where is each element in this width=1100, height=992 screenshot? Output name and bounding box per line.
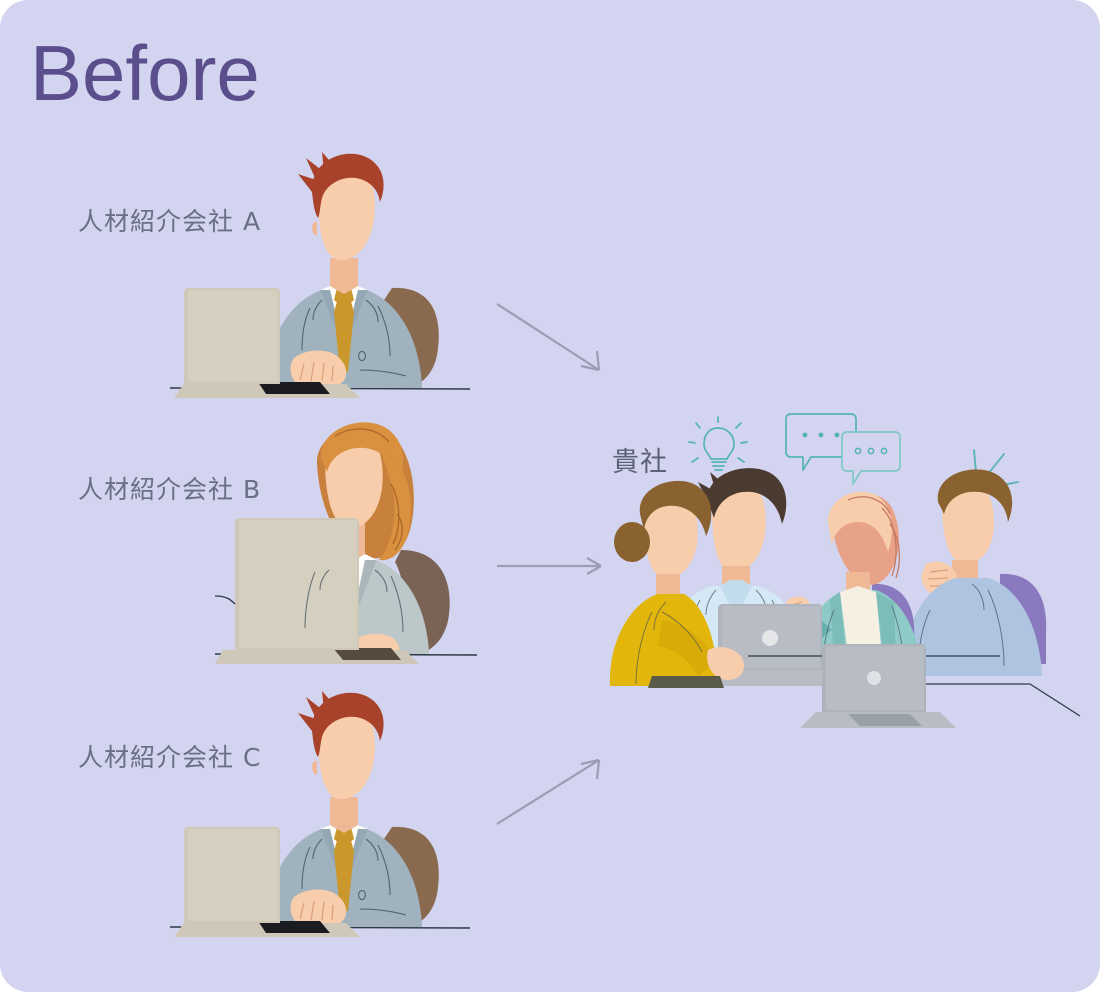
businessman-c-illustration — [170, 678, 490, 940]
infographic-canvas: Before 人材紹介会社 A — [0, 0, 1100, 992]
arrow-b-to-company — [495, 552, 610, 582]
businesswoman-b-illustration — [215, 410, 495, 665]
arrow-a-to-company — [495, 300, 610, 380]
businessman-a-illustration — [170, 140, 490, 400]
arrow-c-to-company — [495, 752, 610, 832]
page-title: Before — [30, 34, 260, 112]
person-man-right — [904, 469, 1047, 676]
meeting-scene-illustration — [600, 460, 1100, 690]
